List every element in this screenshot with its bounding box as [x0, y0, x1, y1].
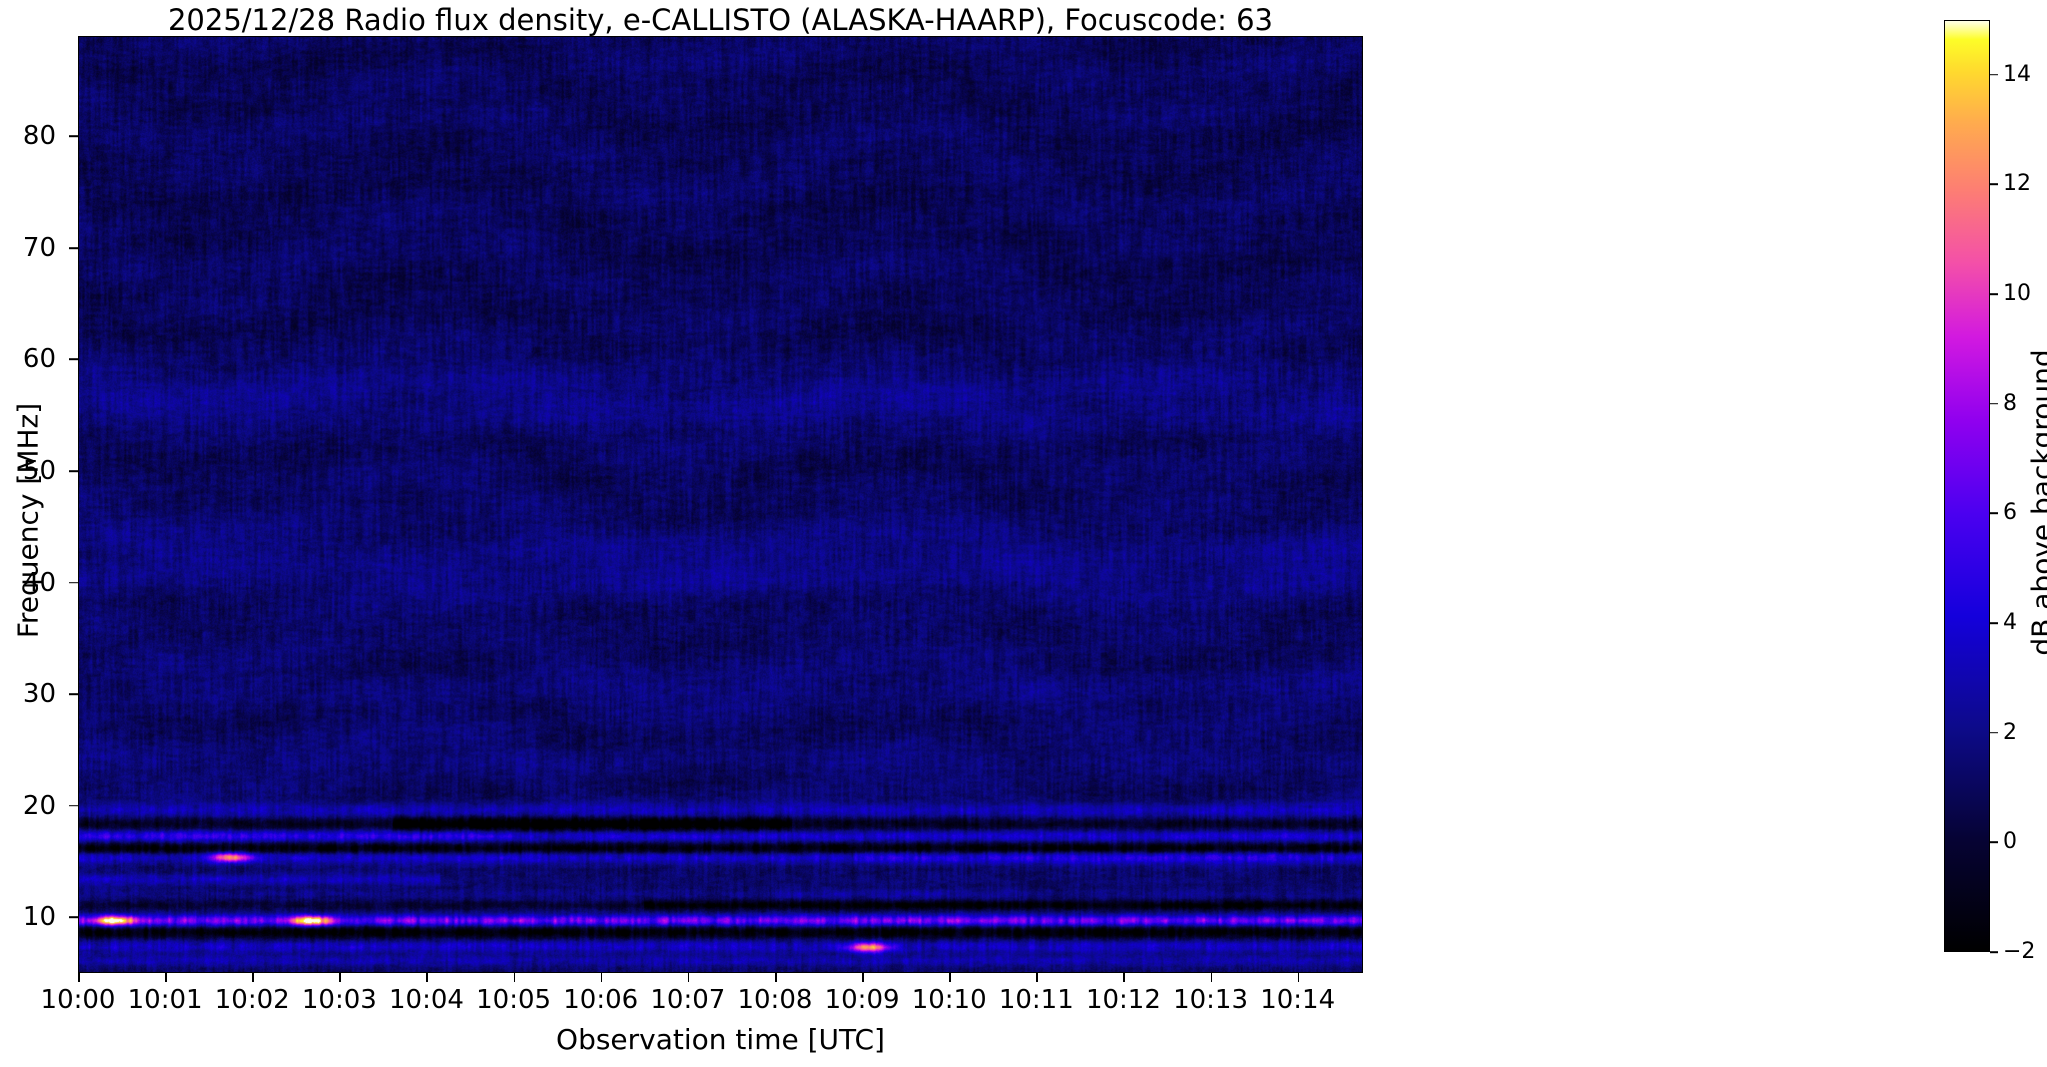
y-tick-mark — [69, 916, 78, 918]
colorbar-tick-label: 6 — [2003, 502, 2017, 524]
x-tick-mark — [1123, 973, 1125, 982]
chart-title: 2025/12/28 Radio flux density, e-CALLIST… — [78, 4, 1363, 36]
x-tick-label: 10:00 — [41, 987, 116, 1013]
x-tick-label: 10:11 — [999, 987, 1074, 1013]
spectrogram-image — [79, 37, 1362, 972]
x-tick-label: 10:04 — [389, 987, 464, 1013]
colorbar-tick-label: 2 — [2003, 722, 2017, 744]
x-tick-label: 10:05 — [476, 987, 551, 1013]
colorbar-tick-mark — [1990, 951, 1998, 953]
colorbar-gradient — [1945, 21, 1989, 951]
y-axis-label: Frequency [MHz] — [12, 311, 45, 731]
x-tick-mark — [1211, 973, 1213, 982]
y-tick-mark — [69, 582, 78, 584]
x-tick-mark — [1036, 973, 1038, 982]
colorbar[interactable] — [1944, 20, 1990, 952]
x-tick-mark — [78, 973, 80, 982]
x-tick-mark — [949, 973, 951, 982]
x-tick-label: 10:10 — [912, 987, 987, 1013]
colorbar-tick-mark — [1990, 513, 1998, 515]
x-tick-mark — [514, 973, 516, 982]
colorbar-tick-mark — [1990, 293, 1998, 295]
x-tick-label: 10:07 — [650, 987, 725, 1013]
x-tick-label: 10:06 — [563, 987, 638, 1013]
x-tick-mark — [339, 973, 341, 982]
x-tick-label: 10:14 — [1260, 987, 1335, 1013]
x-tick-mark — [426, 973, 428, 982]
spectrogram-plot-area[interactable] — [78, 36, 1363, 973]
x-tick-label: 10:01 — [128, 987, 203, 1013]
x-tick-label: 10:09 — [825, 987, 900, 1013]
x-axis-label: Observation time [UTC] — [78, 1023, 1363, 1056]
colorbar-tick-mark — [1990, 622, 1998, 624]
colorbar-tick-mark — [1990, 74, 1998, 76]
x-tick-mark — [688, 973, 690, 982]
colorbar-tick-mark — [1990, 842, 1998, 844]
y-tick-mark — [69, 470, 78, 472]
x-tick-mark — [775, 973, 777, 982]
y-tick-mark — [69, 693, 78, 695]
x-tick-mark — [252, 973, 254, 982]
x-axis: 10:0010:0110:0210:0310:0410:0510:0610:07… — [78, 973, 1363, 1025]
colorbar-tick-mark — [1990, 184, 1998, 186]
y-tick-mark — [69, 136, 78, 138]
x-tick-mark — [165, 973, 167, 982]
y-axis-label-wrap: Frequency [MHz] — [6, 36, 36, 973]
colorbar-tick-mark — [1990, 732, 1998, 734]
x-tick-label: 10:12 — [1086, 987, 1161, 1013]
colorbar-tick-label: 4 — [2003, 612, 2017, 634]
x-tick-label: 10:02 — [215, 987, 290, 1013]
colorbar-tick-mark — [1990, 403, 1998, 405]
x-tick-mark — [862, 973, 864, 982]
colorbar-tick-label: 0 — [2003, 831, 2017, 853]
colorbar-label-wrap: dB above background — [2018, 20, 2047, 952]
y-tick-mark — [69, 359, 78, 361]
x-tick-mark — [601, 973, 603, 982]
x-tick-mark — [1298, 973, 1300, 982]
y-tick-mark — [69, 247, 78, 249]
x-tick-label: 10:08 — [737, 987, 812, 1013]
y-tick-mark — [69, 805, 78, 807]
colorbar-label: dB above background — [2026, 273, 2047, 733]
x-tick-label: 10:03 — [302, 987, 377, 1013]
x-tick-label: 10:13 — [1173, 987, 1248, 1013]
colorbar-tick-label: 8 — [2003, 393, 2017, 415]
